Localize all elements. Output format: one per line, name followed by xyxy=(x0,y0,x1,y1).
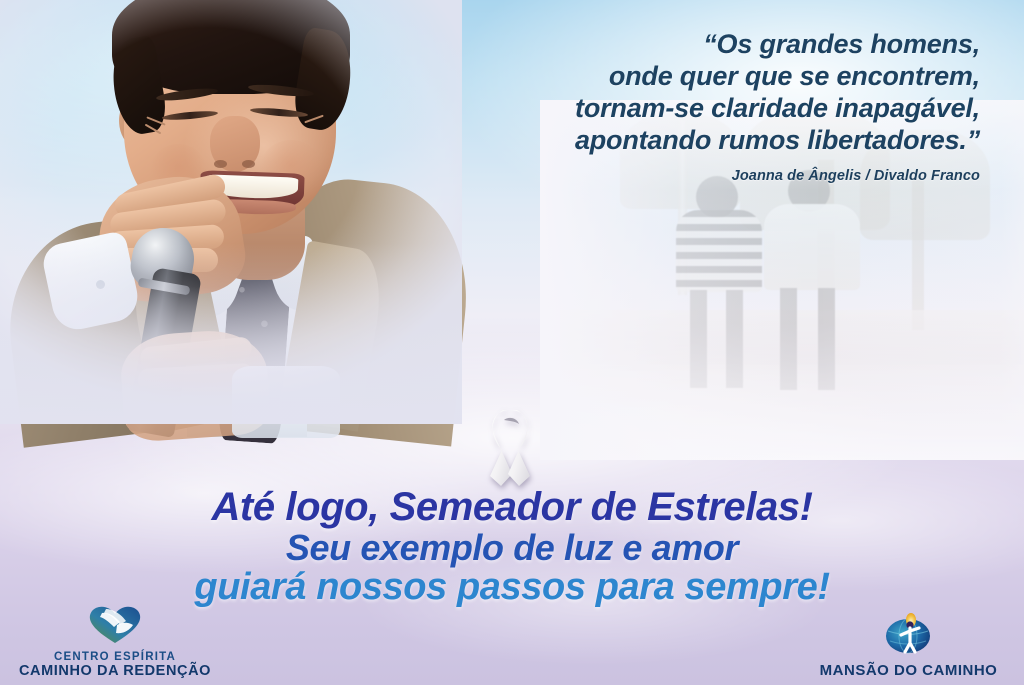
headline-line-1: Até logo, Semeador de Estrelas! xyxy=(0,486,1024,529)
logo-left-line-1: CENTRO ESPÍRITA xyxy=(10,651,220,663)
logo-mansao-do-caminho: MANSÃO DO CAMINHO xyxy=(801,611,1016,679)
quote-attribution: Joanna de Ângelis / Divaldo Franco xyxy=(420,168,980,184)
portrait-divaldo-franco xyxy=(0,0,462,424)
quote-line-3: tornam-se claridade inapagável, xyxy=(420,92,980,124)
globe-torch-figure-icon xyxy=(801,611,1016,660)
logo-centro-espirita: CENTRO ESPÍRITA CAMINHO DA REDENÇÃO xyxy=(10,603,220,679)
headline-block: Até logo, Semeador de Estrelas! Seu exem… xyxy=(0,486,1024,608)
quote-block: “Os grandes homens, onde quer que se enc… xyxy=(420,28,980,184)
headline-line-3: guiará nossos passos para sempre! xyxy=(0,567,1024,608)
white-ribbon-icon xyxy=(472,404,548,490)
memorial-poster: “Os grandes homens, onde quer que se enc… xyxy=(0,0,1024,685)
headline-line-2: Seu exemplo de luz e amor xyxy=(0,529,1024,568)
quote-line-2: onde quer que se encontrem, xyxy=(420,60,980,92)
heart-hands-icon xyxy=(10,603,220,650)
logo-right-line-1: MANSÃO DO CAMINHO xyxy=(801,662,1016,679)
quote-line-1: “Os grandes homens, xyxy=(420,28,980,60)
logo-left-line-2: CAMINHO DA REDENÇÃO xyxy=(10,663,220,679)
quote-line-4: apontando rumos libertadores.” xyxy=(420,124,980,156)
